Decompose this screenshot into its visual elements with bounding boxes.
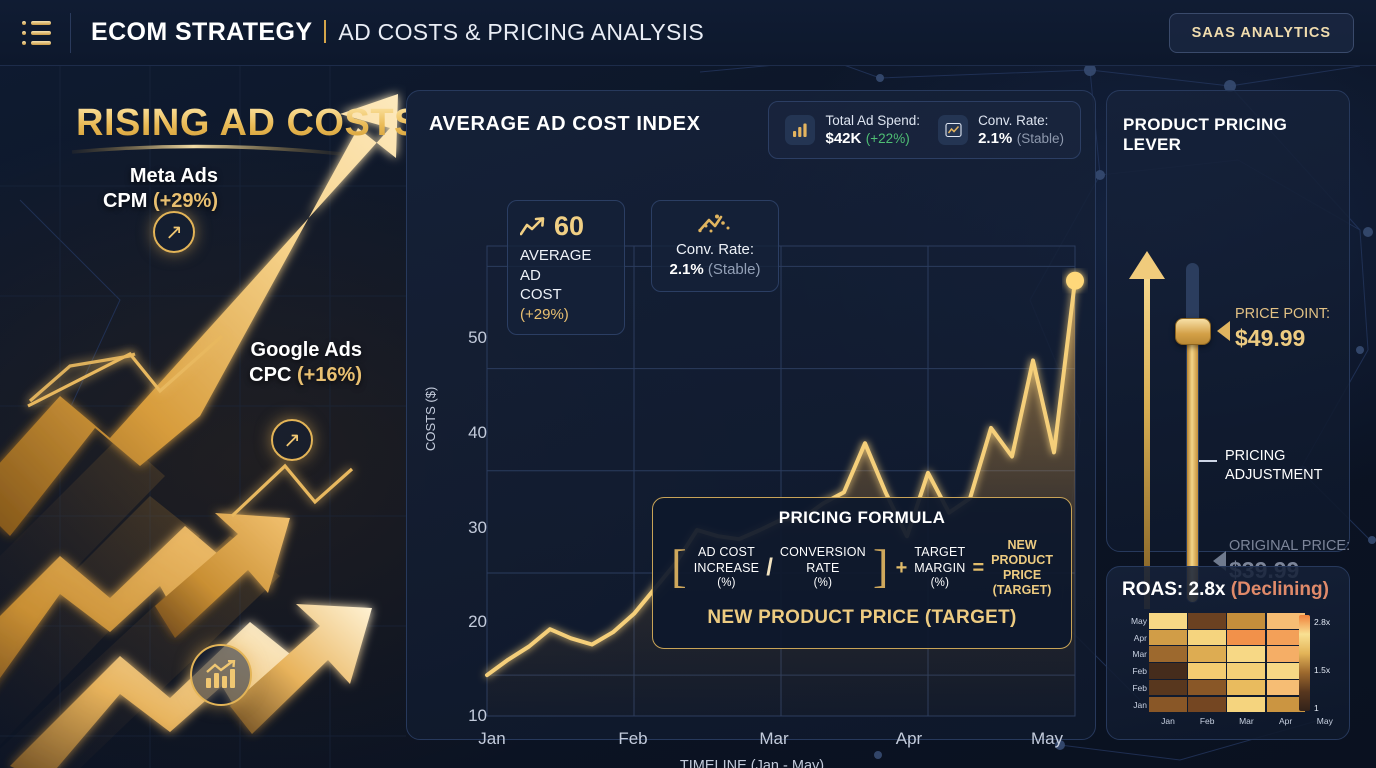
- heatmap-cell[interactable]: [1149, 663, 1187, 679]
- formula-term-target-margin: TARGET MARGIN (%): [914, 545, 965, 591]
- term-line3: PRICE: [1003, 568, 1041, 582]
- kpi-average-ad-cost: 60 AVERAGE AD COST (+29%): [507, 200, 625, 335]
- term-line1: TARGET: [914, 545, 965, 559]
- pricing-adjustment-label: PRICING ADJUSTMENT: [1225, 447, 1322, 484]
- heatmap-row-label: Mar: [1121, 649, 1147, 659]
- callout-meta-name: Meta Ads: [38, 164, 218, 189]
- original-price-label: ORIGINAL PRICE:: [1229, 537, 1350, 556]
- term-unit: (%): [914, 576, 965, 590]
- kpi-caption: AVERAGE AD COST (+29%): [520, 246, 612, 324]
- roas-heatmap: MayAprMarFebFebJanJanFebMarAprMay2.8x1.5…: [1121, 611, 1339, 729]
- heatmap-cell[interactable]: [1149, 646, 1187, 662]
- kpi-caption: Conv. Rate: 2.1% (Stable): [664, 240, 766, 281]
- price-slider-fill: [1187, 330, 1198, 602]
- y-tick: 20: [447, 612, 487, 632]
- heatmap-col-label: Apr: [1271, 716, 1301, 726]
- heatmap-cell[interactable]: [1188, 663, 1226, 679]
- heatmap-cell[interactable]: [1227, 663, 1265, 679]
- price-point-readout: PRICE POINT: $49.99: [1235, 305, 1330, 353]
- operator-divide: /: [766, 554, 773, 582]
- heatmap-cell[interactable]: [1149, 613, 1187, 629]
- stat-label: Total Ad Spend:: [825, 112, 920, 130]
- y-axis-label: COSTS ($): [423, 387, 438, 451]
- kpi-label: Conv. Rate:: [676, 241, 754, 258]
- adjustment-label-l2: ADJUSTMENT: [1225, 467, 1322, 483]
- bar-chart-icon: [785, 115, 815, 145]
- x-tick: Jan: [462, 729, 522, 749]
- heatmap-cell[interactable]: [1149, 697, 1187, 713]
- roas-heatmap-card: ROAS: 2.8x (Declining) MayAprMarFebFebJa…: [1106, 566, 1350, 740]
- heatmap-col-label: May: [1310, 716, 1340, 726]
- callout-google-metric: CPC: [249, 364, 291, 386]
- stat-delta: (+22%): [866, 131, 910, 146]
- operator-equals: =: [972, 557, 984, 580]
- bracket-close: ]: [873, 551, 889, 585]
- y-tick: 30: [447, 518, 487, 538]
- header-titles: ECOM STRATEGYAD COSTS & PRICING ANALYSIS: [91, 18, 704, 47]
- stat-delta: (Stable): [1017, 131, 1064, 146]
- callout-meta-change: (+29%): [153, 190, 218, 212]
- term-unit: (%): [780, 576, 866, 590]
- y-tick: 50: [447, 328, 487, 348]
- stat-label: Conv. Rate:: [978, 112, 1064, 130]
- lever-body: PRICE POINT: $49.99 PRICING ADJUSTMENT O…: [1107, 153, 1351, 553]
- heatmap-colorbar: [1299, 615, 1310, 711]
- kpi-caption-l1: AVERAGE AD: [520, 247, 591, 284]
- average-ad-cost-chart-card: AVERAGE AD COST INDEX Total Ad Spend: $4…: [406, 90, 1096, 740]
- kpi-value-row: 60: [520, 211, 612, 242]
- roas-value: 2.8x: [1189, 579, 1226, 600]
- app-header: ECOM STRATEGYAD COSTS & PRICING ANALYSIS…: [0, 0, 1376, 66]
- callout-google-name: Google Ads: [172, 338, 362, 363]
- title-separator: [324, 20, 326, 43]
- scatter-spark-icon: [664, 213, 766, 240]
- operator-plus: +: [896, 557, 908, 580]
- page-subtitle: AD COSTS & PRICING ANALYSIS: [338, 19, 704, 45]
- formula-result: NEW PRODUCT PRICE (TARGET): [665, 607, 1059, 629]
- term-line2: MARGIN: [914, 561, 965, 575]
- product-pricing-lever-card: PRODUCT PRICING LEVER: [1106, 90, 1350, 552]
- line-chart-icon: [938, 115, 968, 145]
- bracket-open: [: [671, 551, 687, 585]
- colorbar-tick: 1: [1314, 703, 1319, 713]
- heatmap-cell[interactable]: [1188, 630, 1226, 646]
- heatmap-row-label: May: [1121, 616, 1147, 626]
- term-line2: RATE: [806, 561, 839, 575]
- heatmap-cell[interactable]: [1227, 630, 1265, 646]
- heatmap-cell[interactable]: [1188, 680, 1226, 696]
- colorbar-tick: 1.5x: [1314, 665, 1330, 675]
- term-line2: INCREASE: [694, 561, 760, 575]
- header-divider: [70, 13, 71, 53]
- heatmap-cell[interactable]: [1149, 630, 1187, 646]
- price-point-value: $49.99: [1235, 324, 1330, 353]
- price-point-pointer-icon: [1217, 321, 1230, 341]
- y-tick: 10: [447, 706, 487, 726]
- stat-conversion-rate: Conv. Rate: 2.1% (Stable): [938, 112, 1064, 148]
- heatmap-col-label: Mar: [1231, 716, 1261, 726]
- kpi-caption-l2: COST: [520, 286, 561, 303]
- kpi-value: 2.1%: [670, 261, 704, 278]
- formula-term-new-product-price: NEW PRODUCT PRICE (TARGET): [991, 538, 1053, 598]
- heatmap-row-label: Apr: [1121, 633, 1147, 643]
- x-tick: Apr: [879, 729, 939, 749]
- arrow-up-right-icon[interactable]: ↗: [153, 211, 195, 253]
- stat-total-ad-spend: Total Ad Spend: $42K (+22%): [785, 112, 920, 148]
- kpi-change: (+29%): [520, 306, 569, 323]
- heatmap-cell[interactable]: [1188, 646, 1226, 662]
- pricing-formula-box: PRICING FORMULA [ AD COST INCREASE (%) /…: [652, 497, 1072, 649]
- hero-illustration: RISING AD COSTS Meta Ads CPM (+29%) ↗ Go…: [0, 66, 406, 768]
- adjustment-tick: [1199, 460, 1217, 462]
- heatmap-cell[interactable]: [1149, 680, 1187, 696]
- chart-card-title: AVERAGE AD COST INDEX: [429, 113, 701, 136]
- heatmap-cell[interactable]: [1188, 613, 1226, 629]
- x-tick: Mar: [744, 729, 804, 749]
- term-line4: (TARGET): [993, 583, 1052, 597]
- lever-title: PRODUCT PRICING LEVER: [1123, 115, 1349, 155]
- x-tick: May: [1017, 729, 1077, 749]
- heatmap-row-label: Feb: [1121, 683, 1147, 693]
- arrow-up-right-icon[interactable]: ↗: [271, 419, 313, 461]
- heatmap-cell[interactable]: [1227, 697, 1265, 713]
- list-menu-icon[interactable]: [22, 21, 52, 45]
- formula-term-conversion-rate: CONVERSION RATE (%): [780, 545, 866, 591]
- x-tick: Feb: [603, 729, 663, 749]
- arrow-up-icon: [1125, 251, 1171, 611]
- heatmap-cell[interactable]: [1227, 613, 1265, 629]
- x-axis-label: TIMELINE (Jan - May): [407, 758, 1097, 768]
- term-line2: PRODUCT: [991, 553, 1053, 567]
- trend-up-icon: [520, 217, 546, 237]
- adjustment-label-l1: PRICING: [1225, 448, 1285, 464]
- heatmap-cell[interactable]: [1227, 680, 1265, 696]
- callout-meta-ads: Meta Ads CPM (+29%): [38, 164, 218, 214]
- formula-title: PRICING FORMULA: [665, 508, 1059, 528]
- saas-analytics-badge[interactable]: SAAS ANALYTICS: [1169, 13, 1354, 53]
- y-tick: 40: [447, 423, 487, 443]
- roas-prefix: ROAS:: [1122, 579, 1183, 600]
- hero-title: RISING AD COSTS: [76, 102, 406, 145]
- formula-expression: [ AD COST INCREASE (%) / CONVERSION RATE…: [665, 538, 1059, 598]
- callout-google-ads: Google Ads CPC (+16%): [172, 338, 362, 388]
- callout-google-change: (+16%): [297, 364, 362, 386]
- term-line1: NEW: [1007, 538, 1036, 552]
- heatmap-col-label: Feb: [1192, 716, 1222, 726]
- kpi-status: (Stable): [708, 261, 761, 278]
- formula-term-ad-cost-increase: AD COST INCREASE (%): [694, 545, 760, 591]
- term-line1: CONVERSION: [780, 545, 866, 559]
- roas-trend: (Declining): [1231, 579, 1329, 600]
- kpi-conversion-rate: Conv. Rate: 2.1% (Stable): [651, 200, 779, 292]
- dashboard-root: ECOM STRATEGYAD COSTS & PRICING ANALYSIS…: [0, 0, 1376, 768]
- term-unit: (%): [694, 576, 760, 590]
- growth-bar-chart-icon[interactable]: [190, 644, 252, 706]
- heatmap-col-label: Jan: [1153, 716, 1183, 726]
- term-line1: AD COST: [698, 545, 755, 559]
- heatmap-row-label: Feb: [1121, 666, 1147, 676]
- heatmap-cell[interactable]: [1188, 697, 1226, 713]
- stat-value: 2.1%: [978, 130, 1012, 147]
- callout-meta-metric: CPM: [103, 190, 147, 212]
- brand-name: ECOM STRATEGY: [91, 18, 312, 46]
- kpi-value: 60: [554, 211, 584, 242]
- price-slider-knob[interactable]: [1175, 318, 1211, 345]
- heatmap-row-label: Jan: [1121, 700, 1147, 710]
- colorbar-tick: 2.8x: [1314, 617, 1330, 627]
- heatmap-cell[interactable]: [1227, 646, 1265, 662]
- stat-value: $42K: [825, 130, 861, 147]
- price-point-label: PRICE POINT:: [1235, 305, 1330, 324]
- roas-title: ROAS: 2.8x (Declining): [1122, 579, 1329, 601]
